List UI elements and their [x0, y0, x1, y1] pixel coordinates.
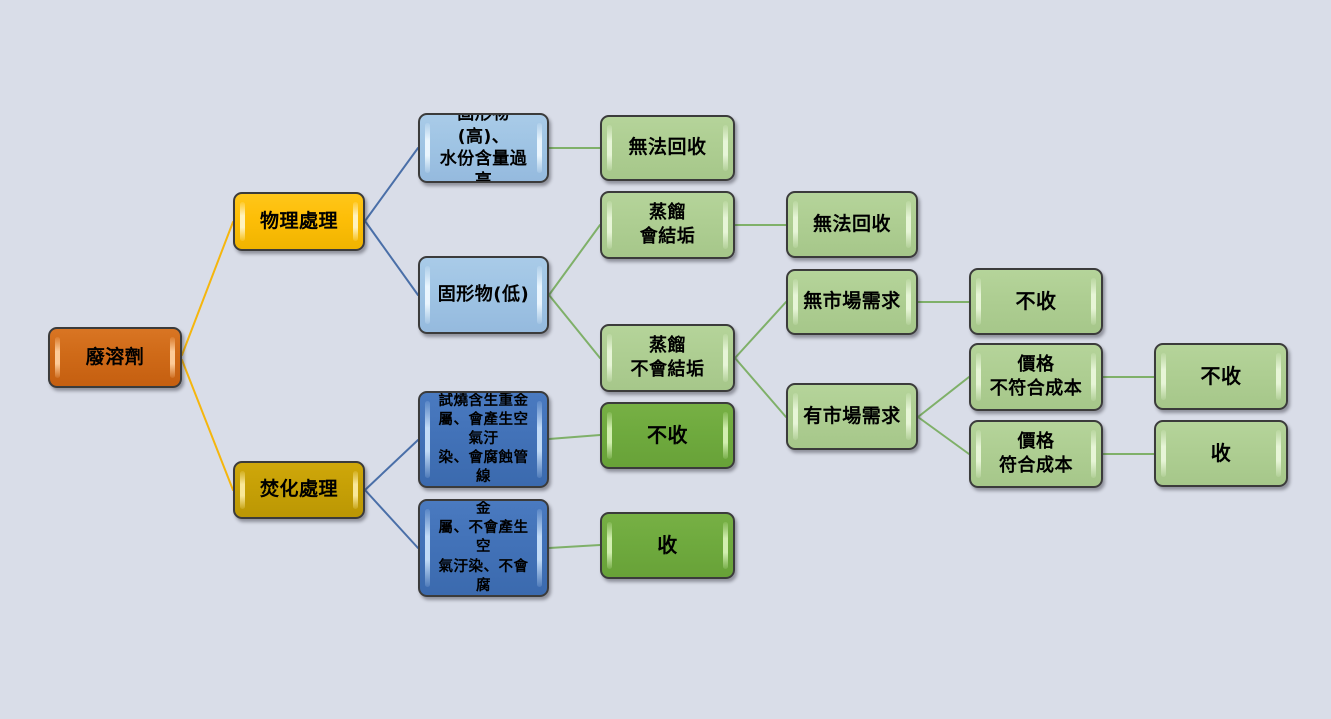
- node-burn-clean[interactable]: 試燒不含生重金 屬、不會產生空 氣汙染、不會腐 蝕管線: [418, 499, 549, 597]
- node-has-demand[interactable]: 有市場需求: [786, 383, 918, 450]
- node-label-no-demand: 無市場需求: [791, 289, 913, 314]
- connector-physical-to-solid-high: [365, 148, 418, 221]
- node-burn-heavy[interactable]: 試燒含生重金 屬、會產生空氣汙 染、會腐蝕管線: [418, 391, 549, 488]
- node-label-root: 廢溶劑: [74, 345, 157, 370]
- node-label-solid-low: 固形物(低): [426, 283, 541, 307]
- node-norecover-2[interactable]: 無法回收: [786, 191, 918, 258]
- node-label-physical: 物理處理: [248, 209, 350, 234]
- connector-burn-clean-to-accept-1: [549, 545, 600, 548]
- node-label-norecover-1: 無法回收: [616, 135, 718, 160]
- node-price-ok[interactable]: 價格 符合成本: [969, 420, 1103, 488]
- connector-physical-to-solid-low: [365, 221, 418, 295]
- node-label-distill-foul: 蒸餾 會結垢: [628, 201, 708, 249]
- connector-incinerate-to-burn-clean: [365, 490, 418, 548]
- node-distill-ok[interactable]: 蒸餾 不會結垢: [600, 324, 735, 392]
- node-root[interactable]: 廢溶劑: [48, 327, 182, 388]
- connector-solid-low-to-distill-foul: [549, 225, 600, 295]
- node-reject-2[interactable]: 不收: [969, 268, 1103, 335]
- node-label-accept-1: 收: [645, 532, 690, 558]
- node-physical[interactable]: 物理處理: [233, 192, 365, 251]
- node-label-distill-ok: 蒸餾 不會結垢: [619, 334, 717, 382]
- connector-burn-heavy-to-reject-1: [549, 435, 600, 439]
- node-solid-high[interactable]: 固形物(高)、 水份含量過高: [418, 113, 549, 183]
- node-no-demand[interactable]: 無市場需求: [786, 269, 918, 335]
- connector-has-demand-to-price-over: [918, 377, 969, 417]
- connector-solid-low-to-distill-ok: [549, 295, 600, 358]
- node-label-reject-1: 不收: [635, 422, 700, 448]
- node-accept-1[interactable]: 收: [600, 512, 735, 579]
- node-label-price-ok: 價格 符合成本: [987, 430, 1085, 478]
- node-reject-3[interactable]: 不收: [1154, 343, 1288, 410]
- flowchart-canvas: 廢溶劑物理處理焚化處理固形物(高)、 水份含量過高固形物(低)試燒含生重金 屬、…: [0, 0, 1331, 719]
- node-label-norecover-2: 無法回收: [801, 212, 903, 237]
- node-label-has-demand: 有市場需求: [791, 404, 913, 429]
- connector-distill-ok-to-has-demand: [735, 358, 786, 417]
- node-label-reject-2: 不收: [1004, 288, 1069, 314]
- node-label-accept-2: 收: [1199, 440, 1244, 466]
- node-price-over[interactable]: 價格 不符合成本: [969, 343, 1103, 411]
- node-accept-2[interactable]: 收: [1154, 420, 1288, 487]
- node-label-incinerate: 焚化處理: [248, 477, 350, 502]
- connector-distill-ok-to-no-demand: [735, 302, 786, 358]
- connector-root-to-incinerate: [182, 360, 233, 490]
- connector-has-demand-to-price-ok: [918, 417, 969, 454]
- node-solid-low[interactable]: 固形物(低): [418, 256, 549, 334]
- node-label-solid-high: 固形物(高)、 水份含量過高: [420, 113, 547, 183]
- connector-incinerate-to-burn-heavy: [365, 440, 418, 490]
- node-label-burn-heavy: 試燒含生重金 屬、會產生空氣汙 染、會腐蝕管線: [420, 392, 547, 488]
- node-norecover-1[interactable]: 無法回收: [600, 115, 735, 181]
- connector-root-to-physical: [182, 222, 233, 355]
- node-incinerate[interactable]: 焚化處理: [233, 461, 365, 519]
- node-label-burn-clean: 試燒不含生重金 屬、不會產生空 氣汙染、不會腐 蝕管線: [420, 499, 547, 597]
- node-reject-1[interactable]: 不收: [600, 402, 735, 469]
- node-label-reject-3: 不收: [1189, 363, 1254, 389]
- node-distill-foul[interactable]: 蒸餾 會結垢: [600, 191, 735, 259]
- node-label-price-over: 價格 不符合成本: [978, 353, 1095, 401]
